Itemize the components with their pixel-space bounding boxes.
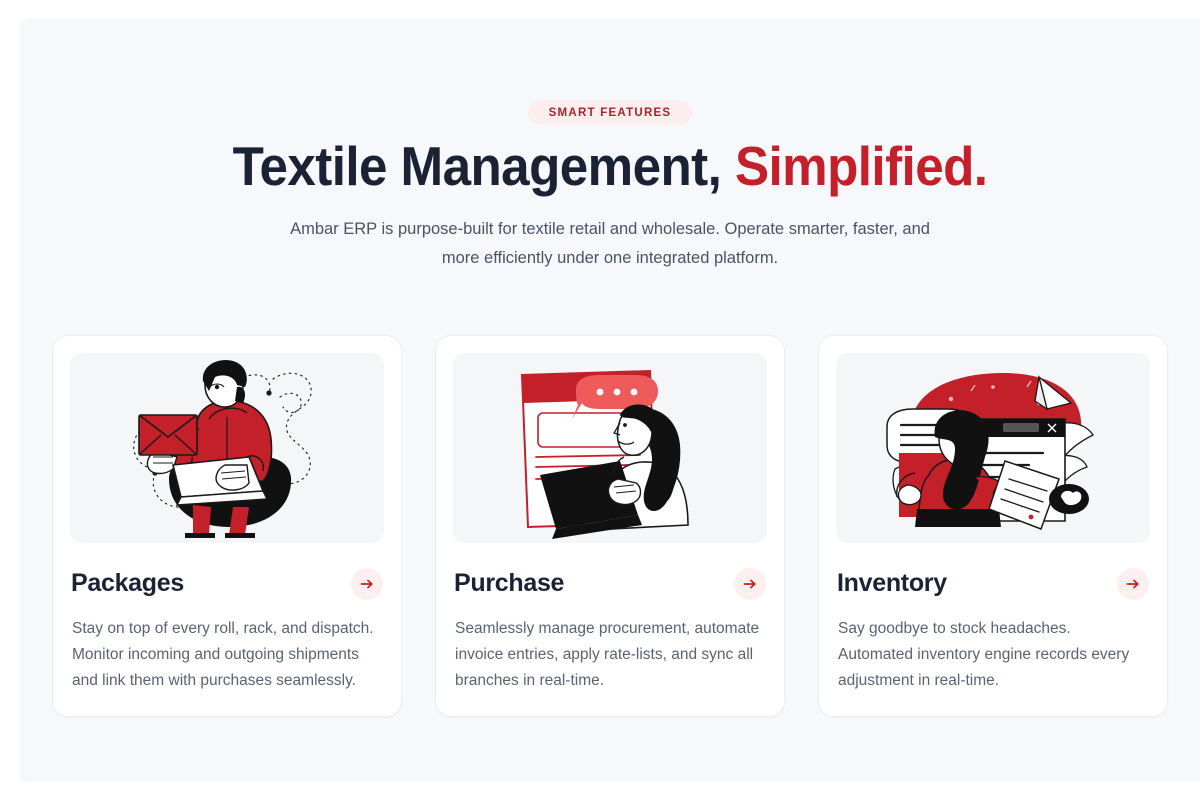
card-description-purchase: Seamlessly manage procurement, automate … [453, 616, 767, 694]
person-with-envelope-and-laptop-illustration [77, 357, 377, 539]
section-headline: Textile Management, Simplified. [61, 137, 1158, 195]
card-arrow-button-packages[interactable] [351, 568, 383, 600]
card-illustration-packages [70, 353, 384, 543]
card-illustration-inventory [836, 353, 1150, 543]
headline-accent-text: Simplified. [735, 135, 987, 197]
card-header-purchase: Purchase [453, 568, 767, 600]
arrow-right-icon [742, 576, 758, 592]
card-description-packages: Stay on top of every roll, rack, and dis… [70, 616, 384, 694]
feature-card-inventory[interactable]: Inventory Say goodbye to stock headaches… [818, 335, 1168, 717]
card-header-packages: Packages [70, 568, 384, 600]
woman-with-laptop-and-chat-bubble-illustration [460, 357, 760, 539]
card-description-inventory: Say goodbye to stock headaches. Automate… [836, 616, 1150, 694]
card-illustration-purchase [453, 353, 767, 543]
card-title-packages: Packages [71, 570, 184, 598]
eyebrow-container: SMART FEATURES [20, 100, 1200, 125]
page-root: SMART FEATURES Textile Management, Simpl… [0, 0, 1200, 800]
smart-features-section: SMART FEATURES Textile Management, Simpl… [20, 18, 1200, 782]
arrow-right-icon [359, 576, 375, 592]
feature-card-purchase[interactable]: Purchase Seamlessly manage procurement, … [435, 335, 785, 717]
card-title-purchase: Purchase [454, 570, 564, 598]
card-arrow-button-inventory[interactable] [1117, 568, 1149, 600]
section-subheadline: Ambar ERP is purpose-built for textile r… [290, 215, 930, 273]
feature-cards-grid: Packages Stay on top of every roll, rack… [52, 335, 1168, 717]
card-arrow-button-purchase[interactable] [734, 568, 766, 600]
card-header-inventory: Inventory [836, 568, 1150, 600]
woman-reviewing-documents-illustration [843, 357, 1143, 539]
section-eyebrow-badge: SMART FEATURES [528, 100, 693, 125]
arrow-right-icon [1125, 576, 1141, 592]
feature-card-packages[interactable]: Packages Stay on top of every roll, rack… [52, 335, 402, 717]
card-title-inventory: Inventory [837, 570, 947, 598]
headline-lead-text: Textile Management, [233, 135, 735, 197]
